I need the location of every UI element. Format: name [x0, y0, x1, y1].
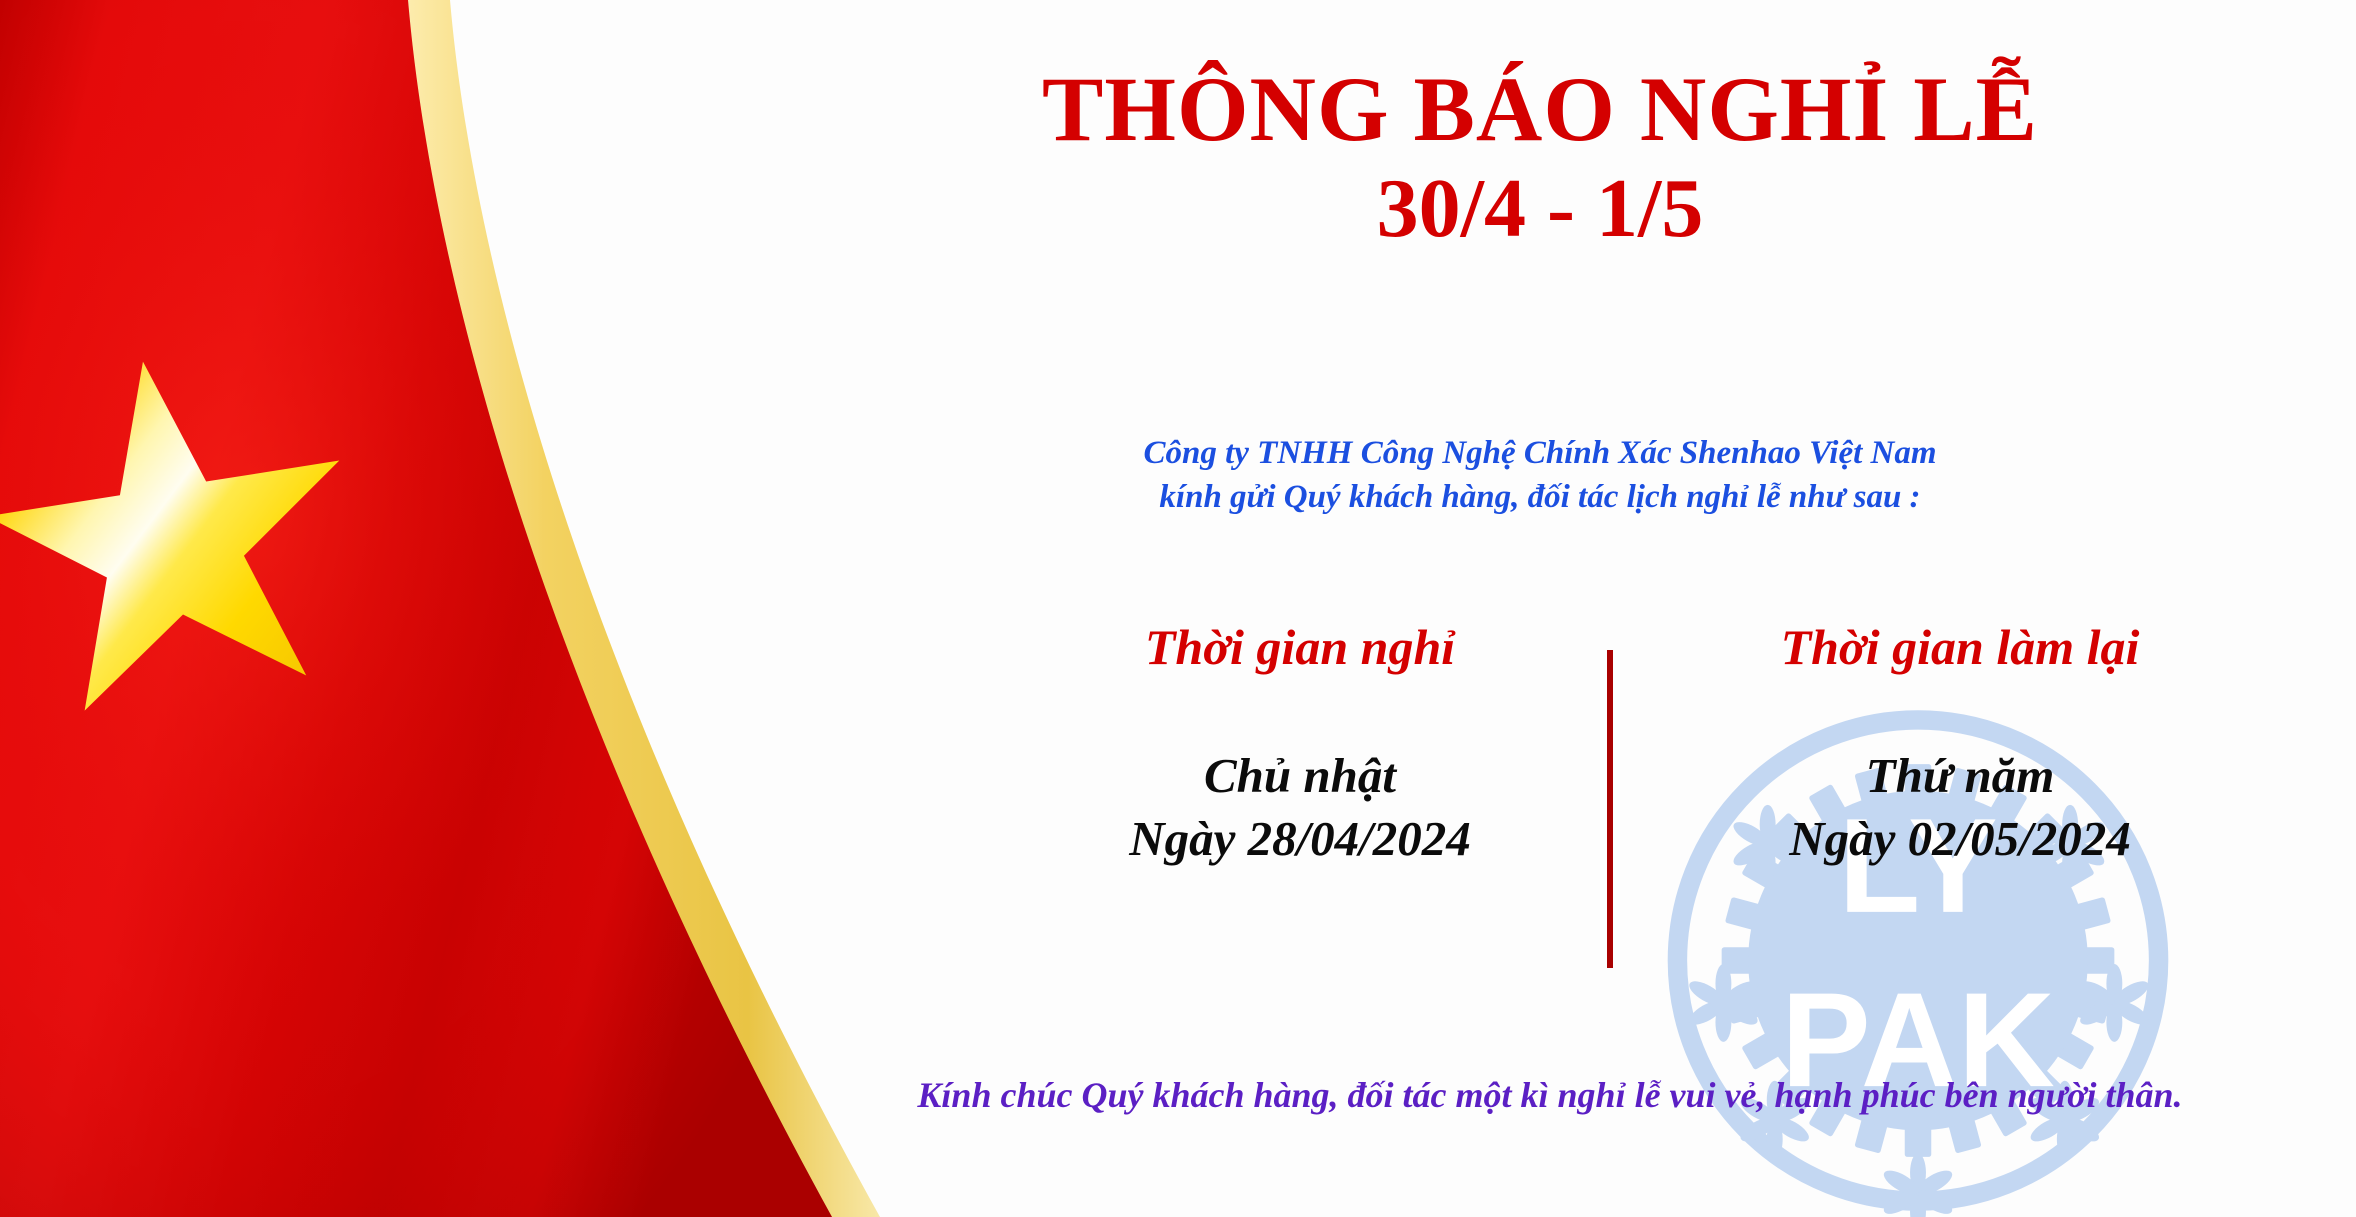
- title-block: THÔNG BÁO NGHỈ LỄ 30/4 - 1/5: [760, 62, 2320, 256]
- holiday-weekday: Chủ nhật: [1000, 745, 1600, 808]
- column-heading-return: Thời gian làm lại: [1660, 620, 2260, 675]
- holiday-date: Ngày 28/04/2024: [1000, 808, 1600, 871]
- column-body-return: Thứ năm Ngày 02/05/2024: [1660, 745, 2260, 870]
- holiday-notice-poster: LY PAK THÔNG BÁO NGHỈ LỄ 30/4 - 1/5 Công…: [0, 0, 2356, 1217]
- column-return-to-work: Thời gian làm lại Thứ năm Ngày 02/05/202…: [1660, 620, 2260, 870]
- flag-red-field: [0, 0, 832, 1217]
- company-name: Công ty TNHH Công Nghệ Chính Xác Shenhao…: [760, 432, 2320, 476]
- holiday-date-range: 30/4 - 1/5: [760, 162, 2320, 256]
- column-heading-holiday: Thời gian nghỉ: [1000, 620, 1600, 675]
- flag-red-sheen: [0, 0, 832, 1217]
- schedule-columns: Thời gian nghỉ Chủ nhật Ngày 28/04/2024 …: [1000, 620, 2260, 1020]
- column-divider: [1607, 650, 1613, 968]
- footer-greeting: Kính chúc Quý khách hàng, đối tác một kì…: [760, 1074, 2340, 1117]
- return-weekday: Thứ năm: [1660, 745, 2260, 808]
- intro-block: Công ty TNHH Công Nghệ Chính Xác Shenhao…: [760, 432, 2320, 519]
- flag-star: [0, 334, 372, 721]
- intro-sentence: kính gửi Quý khách hàng, đối tác lịch ng…: [760, 476, 2320, 520]
- page-title: THÔNG BÁO NGHỈ LỄ: [760, 62, 2320, 158]
- flag-gold-edge: [0, 0, 880, 1217]
- return-date: Ngày 02/05/2024: [1660, 808, 2260, 871]
- column-body-holiday: Chủ nhật Ngày 28/04/2024: [1000, 745, 1600, 870]
- column-holiday-start: Thời gian nghỉ Chủ nhật Ngày 28/04/2024: [1000, 620, 1600, 870]
